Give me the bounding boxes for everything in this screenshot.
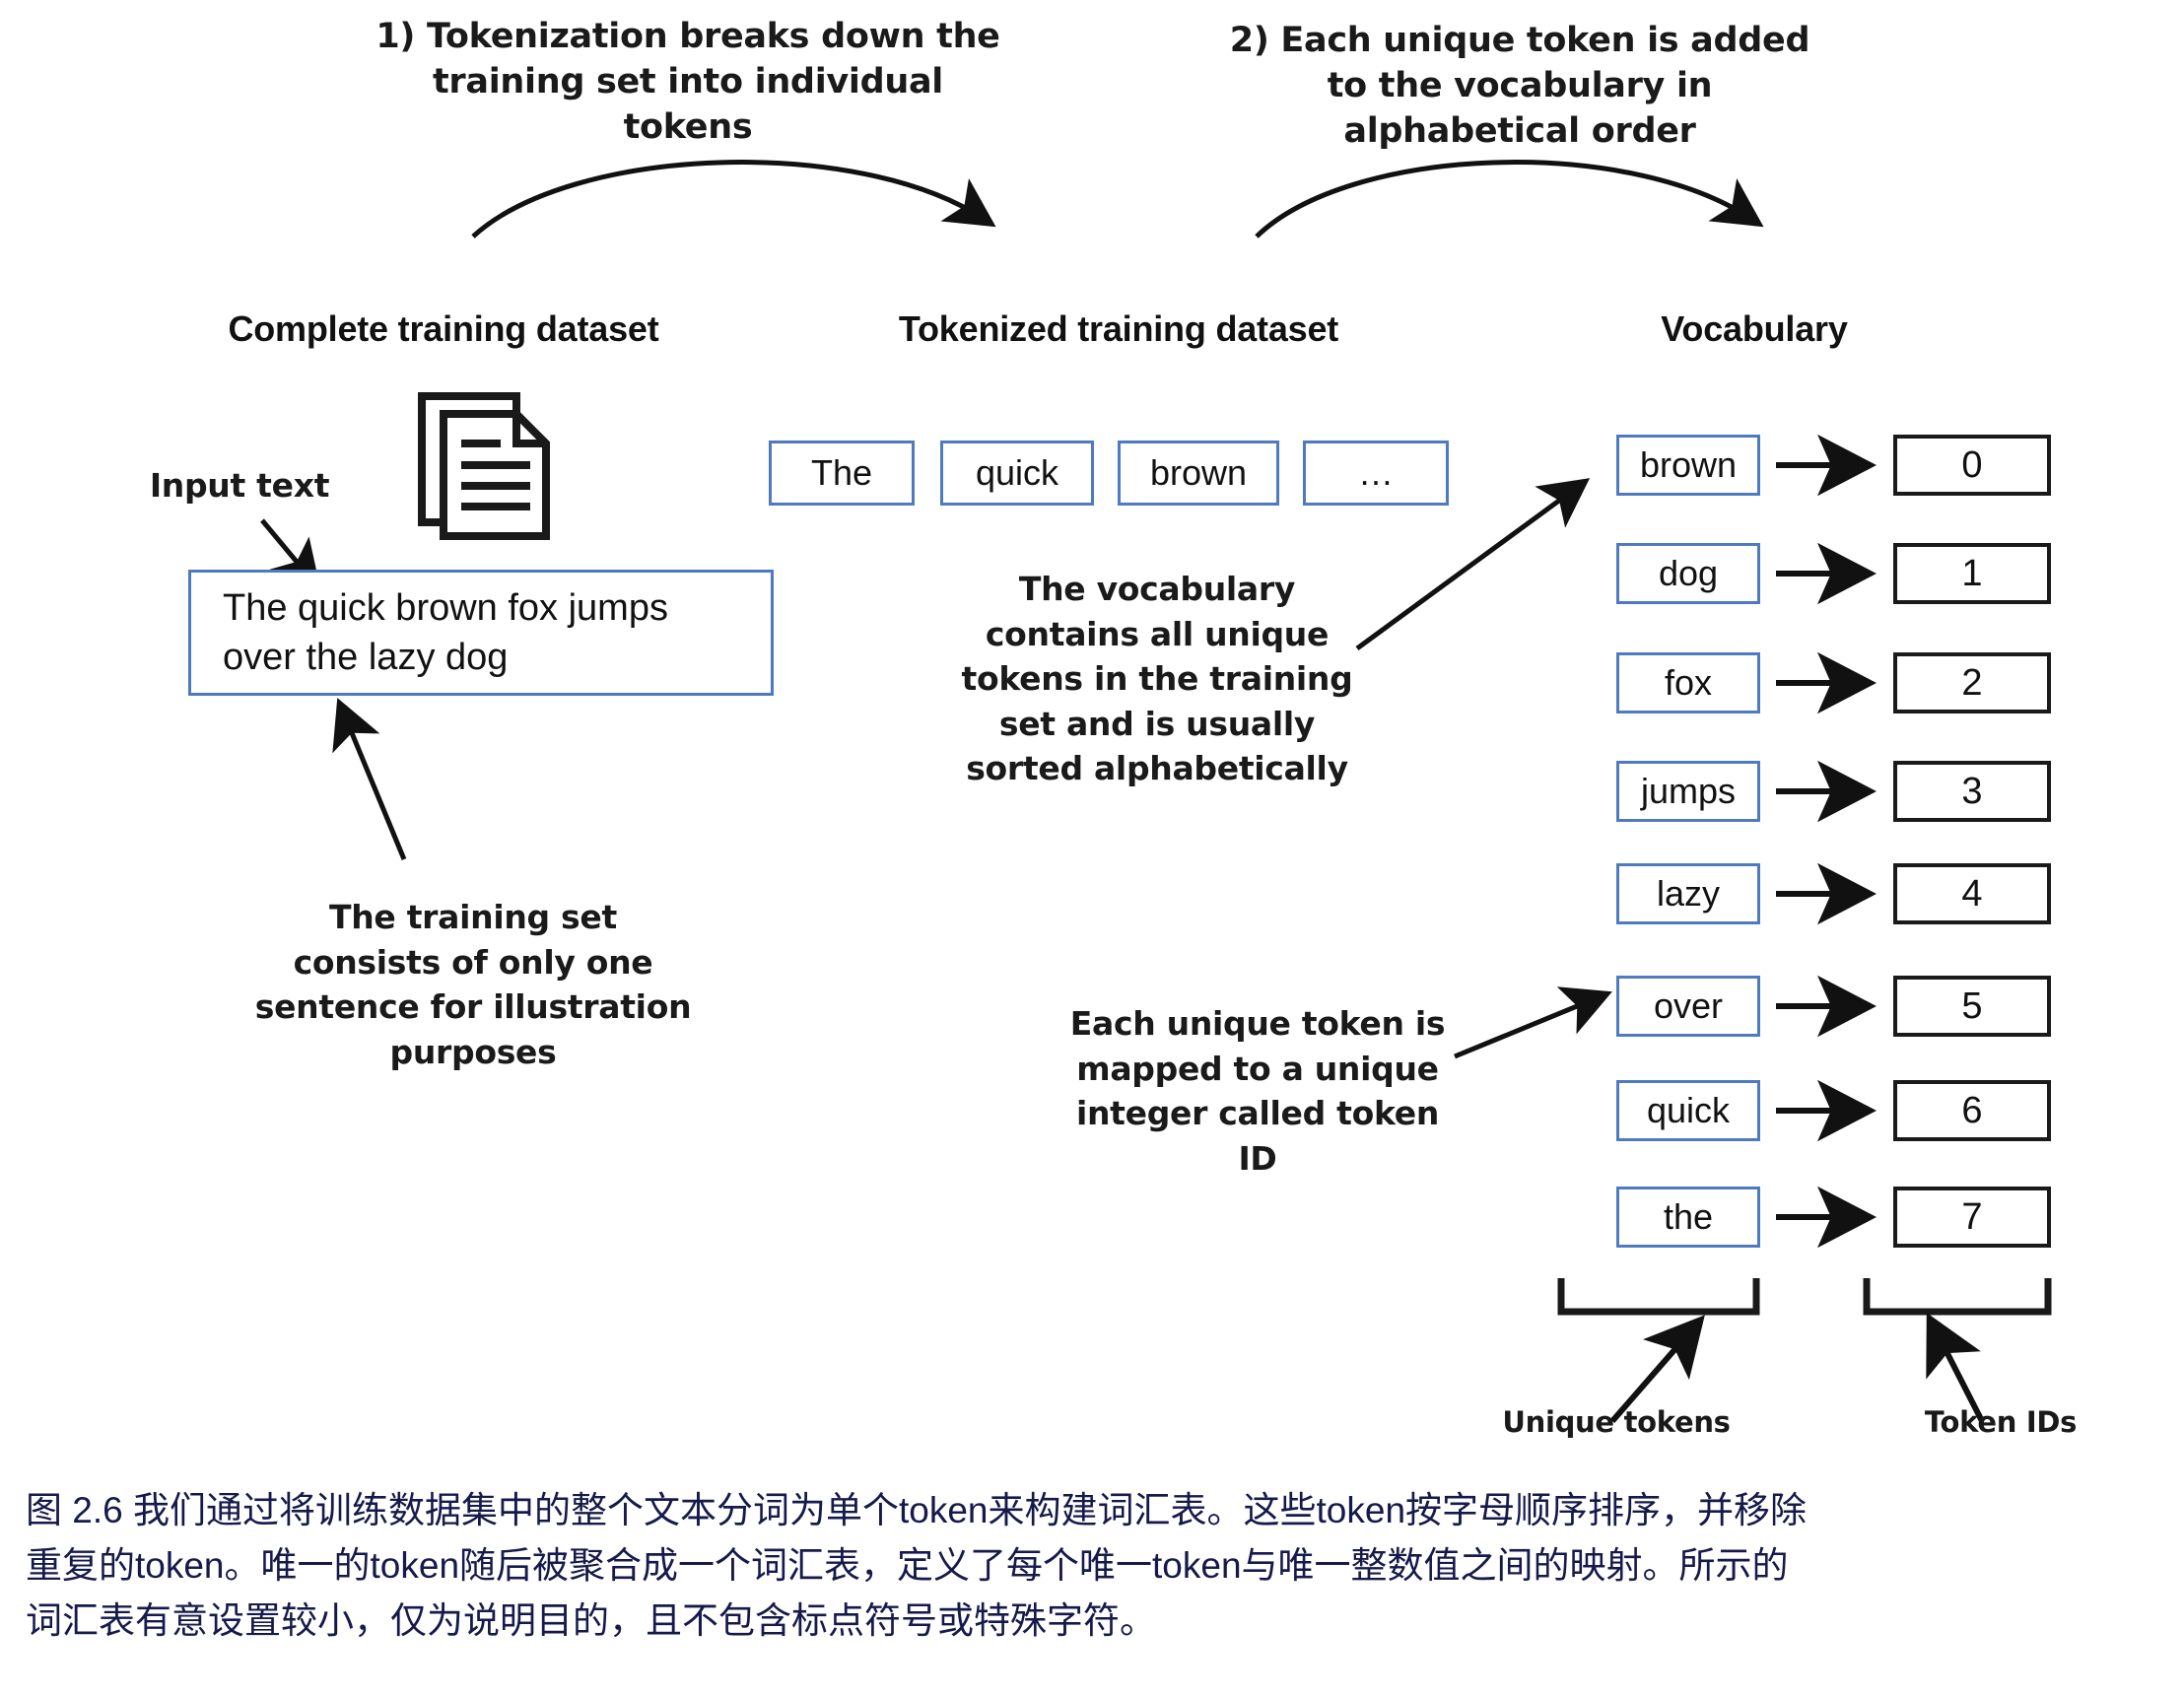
token-id-4[interactable]: 4 bbox=[1893, 863, 2051, 924]
token-chip-0[interactable]: The bbox=[769, 441, 915, 506]
token-id-6[interactable]: 6 bbox=[1893, 1080, 2051, 1141]
token-id-note: Each unique token is mapped to a unique … bbox=[1067, 1001, 1448, 1181]
input-text-box[interactable]: The quick brown fox jumps over the lazy … bbox=[188, 570, 774, 696]
token-id-note-arrow bbox=[1449, 985, 1626, 1074]
unique-tokens-label: Unique tokens bbox=[1449, 1404, 1784, 1442]
caption-line-1: 图 2.6 我们通过将训练数据集中的整个文本分词为单个token来构建词汇表。这… bbox=[26, 1483, 2164, 1538]
token-id-0[interactable]: 0 bbox=[1893, 435, 2051, 496]
vocab-token-2[interactable]: fox bbox=[1616, 652, 1760, 713]
figure-caption: 图 2.6 我们通过将训练数据集中的整个文本分词为单个token来构建词汇表。这… bbox=[26, 1483, 2164, 1650]
map-arrow-2 bbox=[1774, 667, 1884, 701]
vocab-token-0[interactable]: brown bbox=[1616, 435, 1760, 496]
column-title-tokenized-training-dataset: Tokenized training dataset bbox=[823, 308, 1414, 350]
map-arrow-1 bbox=[1774, 558, 1884, 591]
step-1-curved-arrow bbox=[463, 138, 1055, 266]
vocab-token-7[interactable]: the bbox=[1616, 1187, 1760, 1248]
map-arrow-5 bbox=[1774, 990, 1884, 1024]
token-id-1[interactable]: 1 bbox=[1893, 543, 2051, 604]
step-1-heading: 1) Tokenization breaks down the training… bbox=[373, 14, 1003, 151]
token-id-5[interactable]: 5 bbox=[1893, 976, 2051, 1037]
input-text-label: Input text bbox=[116, 465, 363, 508]
step-2-curved-arrow bbox=[1247, 138, 1799, 266]
map-arrow-4 bbox=[1774, 878, 1884, 912]
caption-line-2: 重复的token。唯一的token随后被聚合成一个词汇表，定义了每个唯一toke… bbox=[26, 1538, 2164, 1594]
vocab-token-6[interactable]: quick bbox=[1616, 1080, 1760, 1141]
vocab-token-3[interactable]: jumps bbox=[1616, 761, 1760, 822]
map-arrow-6 bbox=[1774, 1095, 1884, 1128]
map-arrow-0 bbox=[1774, 449, 1884, 483]
documents-icon bbox=[418, 392, 556, 540]
token-id-7[interactable]: 7 bbox=[1893, 1187, 2051, 1248]
vocabulary-note: The vocabulary contains all unique token… bbox=[948, 567, 1366, 791]
training-set-note: The training set consists of only one se… bbox=[251, 895, 695, 1074]
token-id-3[interactable]: 3 bbox=[1893, 761, 2051, 822]
figure-canvas: 1) Tokenization breaks down the training… bbox=[0, 0, 2184, 1697]
map-arrow-3 bbox=[1774, 776, 1884, 809]
step-2-heading: 2) Each unique token is added to the voc… bbox=[1204, 18, 1835, 155]
token-id-2[interactable]: 2 bbox=[1893, 652, 2051, 713]
token-ids-label: Token IDs bbox=[1853, 1404, 2149, 1442]
token-chip-1[interactable]: quick bbox=[940, 441, 1094, 506]
vocabulary-note-arrow bbox=[1343, 473, 1609, 660]
vocab-token-4[interactable]: lazy bbox=[1616, 863, 1760, 924]
input-text-line-1: The quick brown fox jumps bbox=[223, 583, 771, 633]
map-arrow-7 bbox=[1774, 1201, 1884, 1235]
column-title-vocabulary: Vocabulary bbox=[1547, 308, 1961, 350]
token-chip-2[interactable]: brown bbox=[1118, 441, 1279, 506]
vocab-token-1[interactable]: dog bbox=[1616, 543, 1760, 604]
training-set-note-arrow bbox=[325, 700, 463, 867]
input-text-line-2: over the lazy dog bbox=[223, 633, 771, 682]
vocab-token-5[interactable]: over bbox=[1616, 976, 1760, 1037]
caption-line-3: 词汇表有意设置较小，仅为说明目的，且不包含标点符号或特殊字符。 bbox=[26, 1594, 2164, 1649]
column-title-complete-training-dataset: Complete training dataset bbox=[148, 308, 739, 350]
